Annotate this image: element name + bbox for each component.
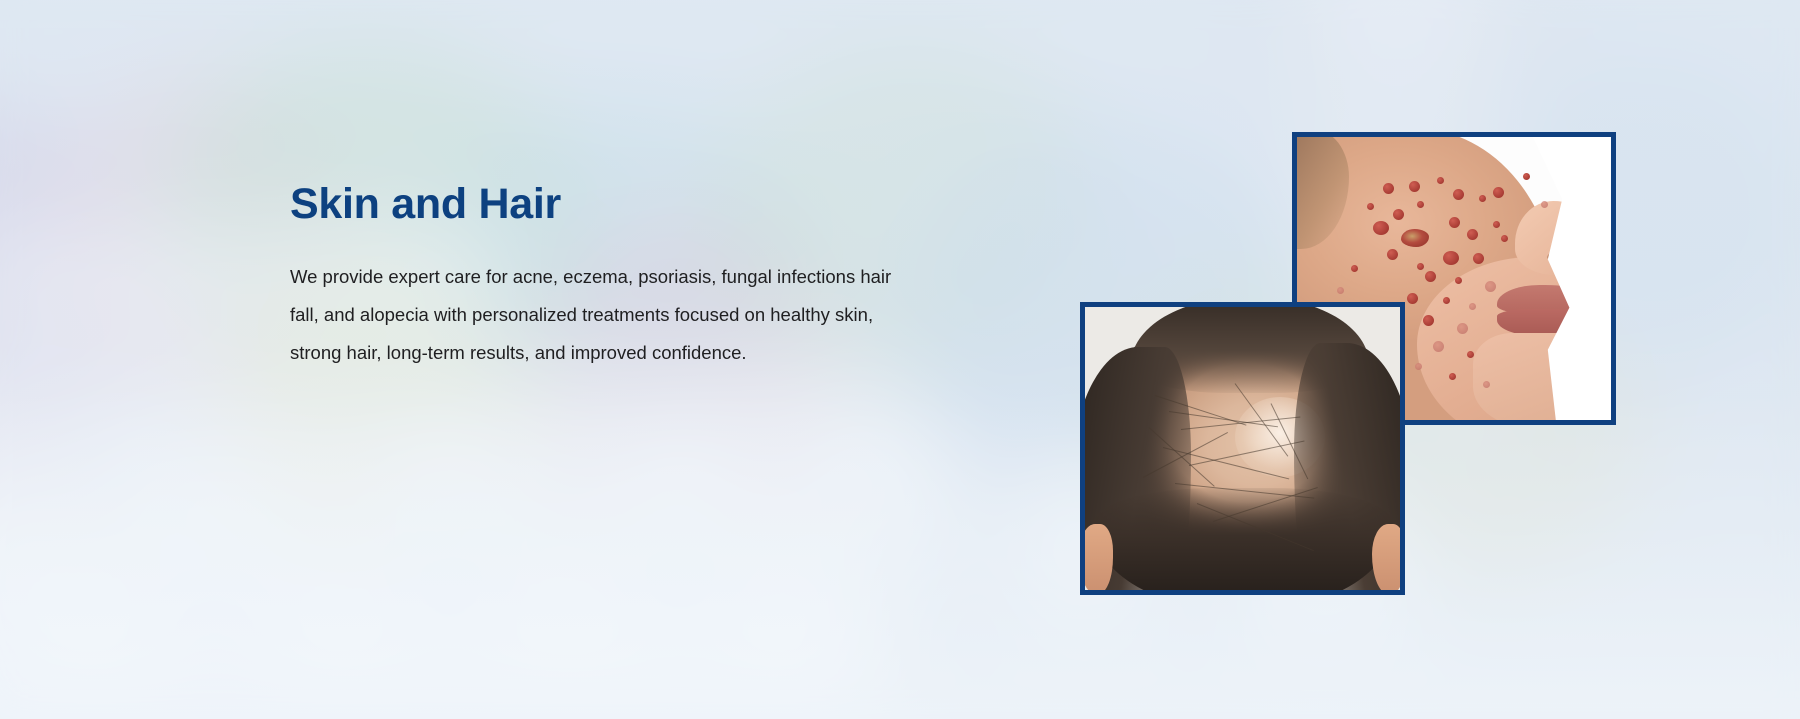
- blurred-capsule-4: [815, 405, 965, 620]
- blurred-capsule-7: [0, 495, 40, 685]
- background-blob-lavender: [0, 100, 120, 520]
- right-ear: [1372, 524, 1400, 590]
- page-title: Skin and Hair: [290, 180, 930, 228]
- blurred-capsule-1: [135, 465, 295, 675]
- hero-copy-block: Skin and Hair We provide expert care for…: [290, 180, 930, 372]
- skin-and-hair-hero-section: Skin and Hair We provide expert care for…: [0, 0, 1800, 719]
- blurred-capsule-2: [375, 430, 525, 645]
- left-ear: [1085, 524, 1113, 590]
- hero-description: We provide expert care for acne, eczema,…: [290, 258, 910, 372]
- blurred-counter-surface: [0, 360, 880, 700]
- blurred-capsule-3: [605, 425, 755, 640]
- hair-back: [1093, 488, 1393, 590]
- blurred-bottle-neck: [1312, 0, 1484, 24]
- hair-loss-photo: [1085, 307, 1400, 590]
- hair-loss-photo-frame: [1080, 302, 1405, 595]
